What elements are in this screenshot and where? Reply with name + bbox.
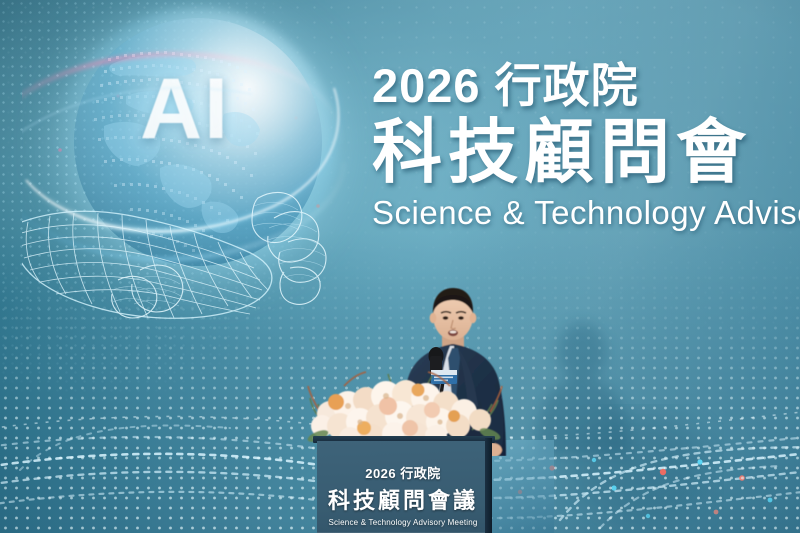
podium-front-panel: 2026 行政院 科技顧問會議 Science & Technology Adv… [317, 441, 489, 533]
podium-right-edge [485, 438, 492, 533]
podium-line-1: 2026 行政院 [317, 463, 489, 482]
backdrop-headline: 2026 行政院 科技顧問會 Science & Technology Advi… [372, 62, 800, 231]
podium-line-3: Science & Technology Advisory Meeting [317, 518, 489, 527]
podium-sign: 2026 行政院 科技顧問會議 Science & Technology Adv… [317, 463, 489, 527]
headline-line-2: 科技顧問會 [372, 115, 800, 189]
globe-orbit-and-hand [22, 2, 352, 352]
headline-line-3: Science & Technology Adviso [372, 195, 800, 231]
headline-line-1: 2026 行政院 [372, 62, 800, 109]
podium-line-2: 科技顧問會議 [317, 483, 489, 515]
press-photo-stage: AI [0, 0, 800, 533]
ai-globe-graphic: AI [22, 2, 352, 352]
